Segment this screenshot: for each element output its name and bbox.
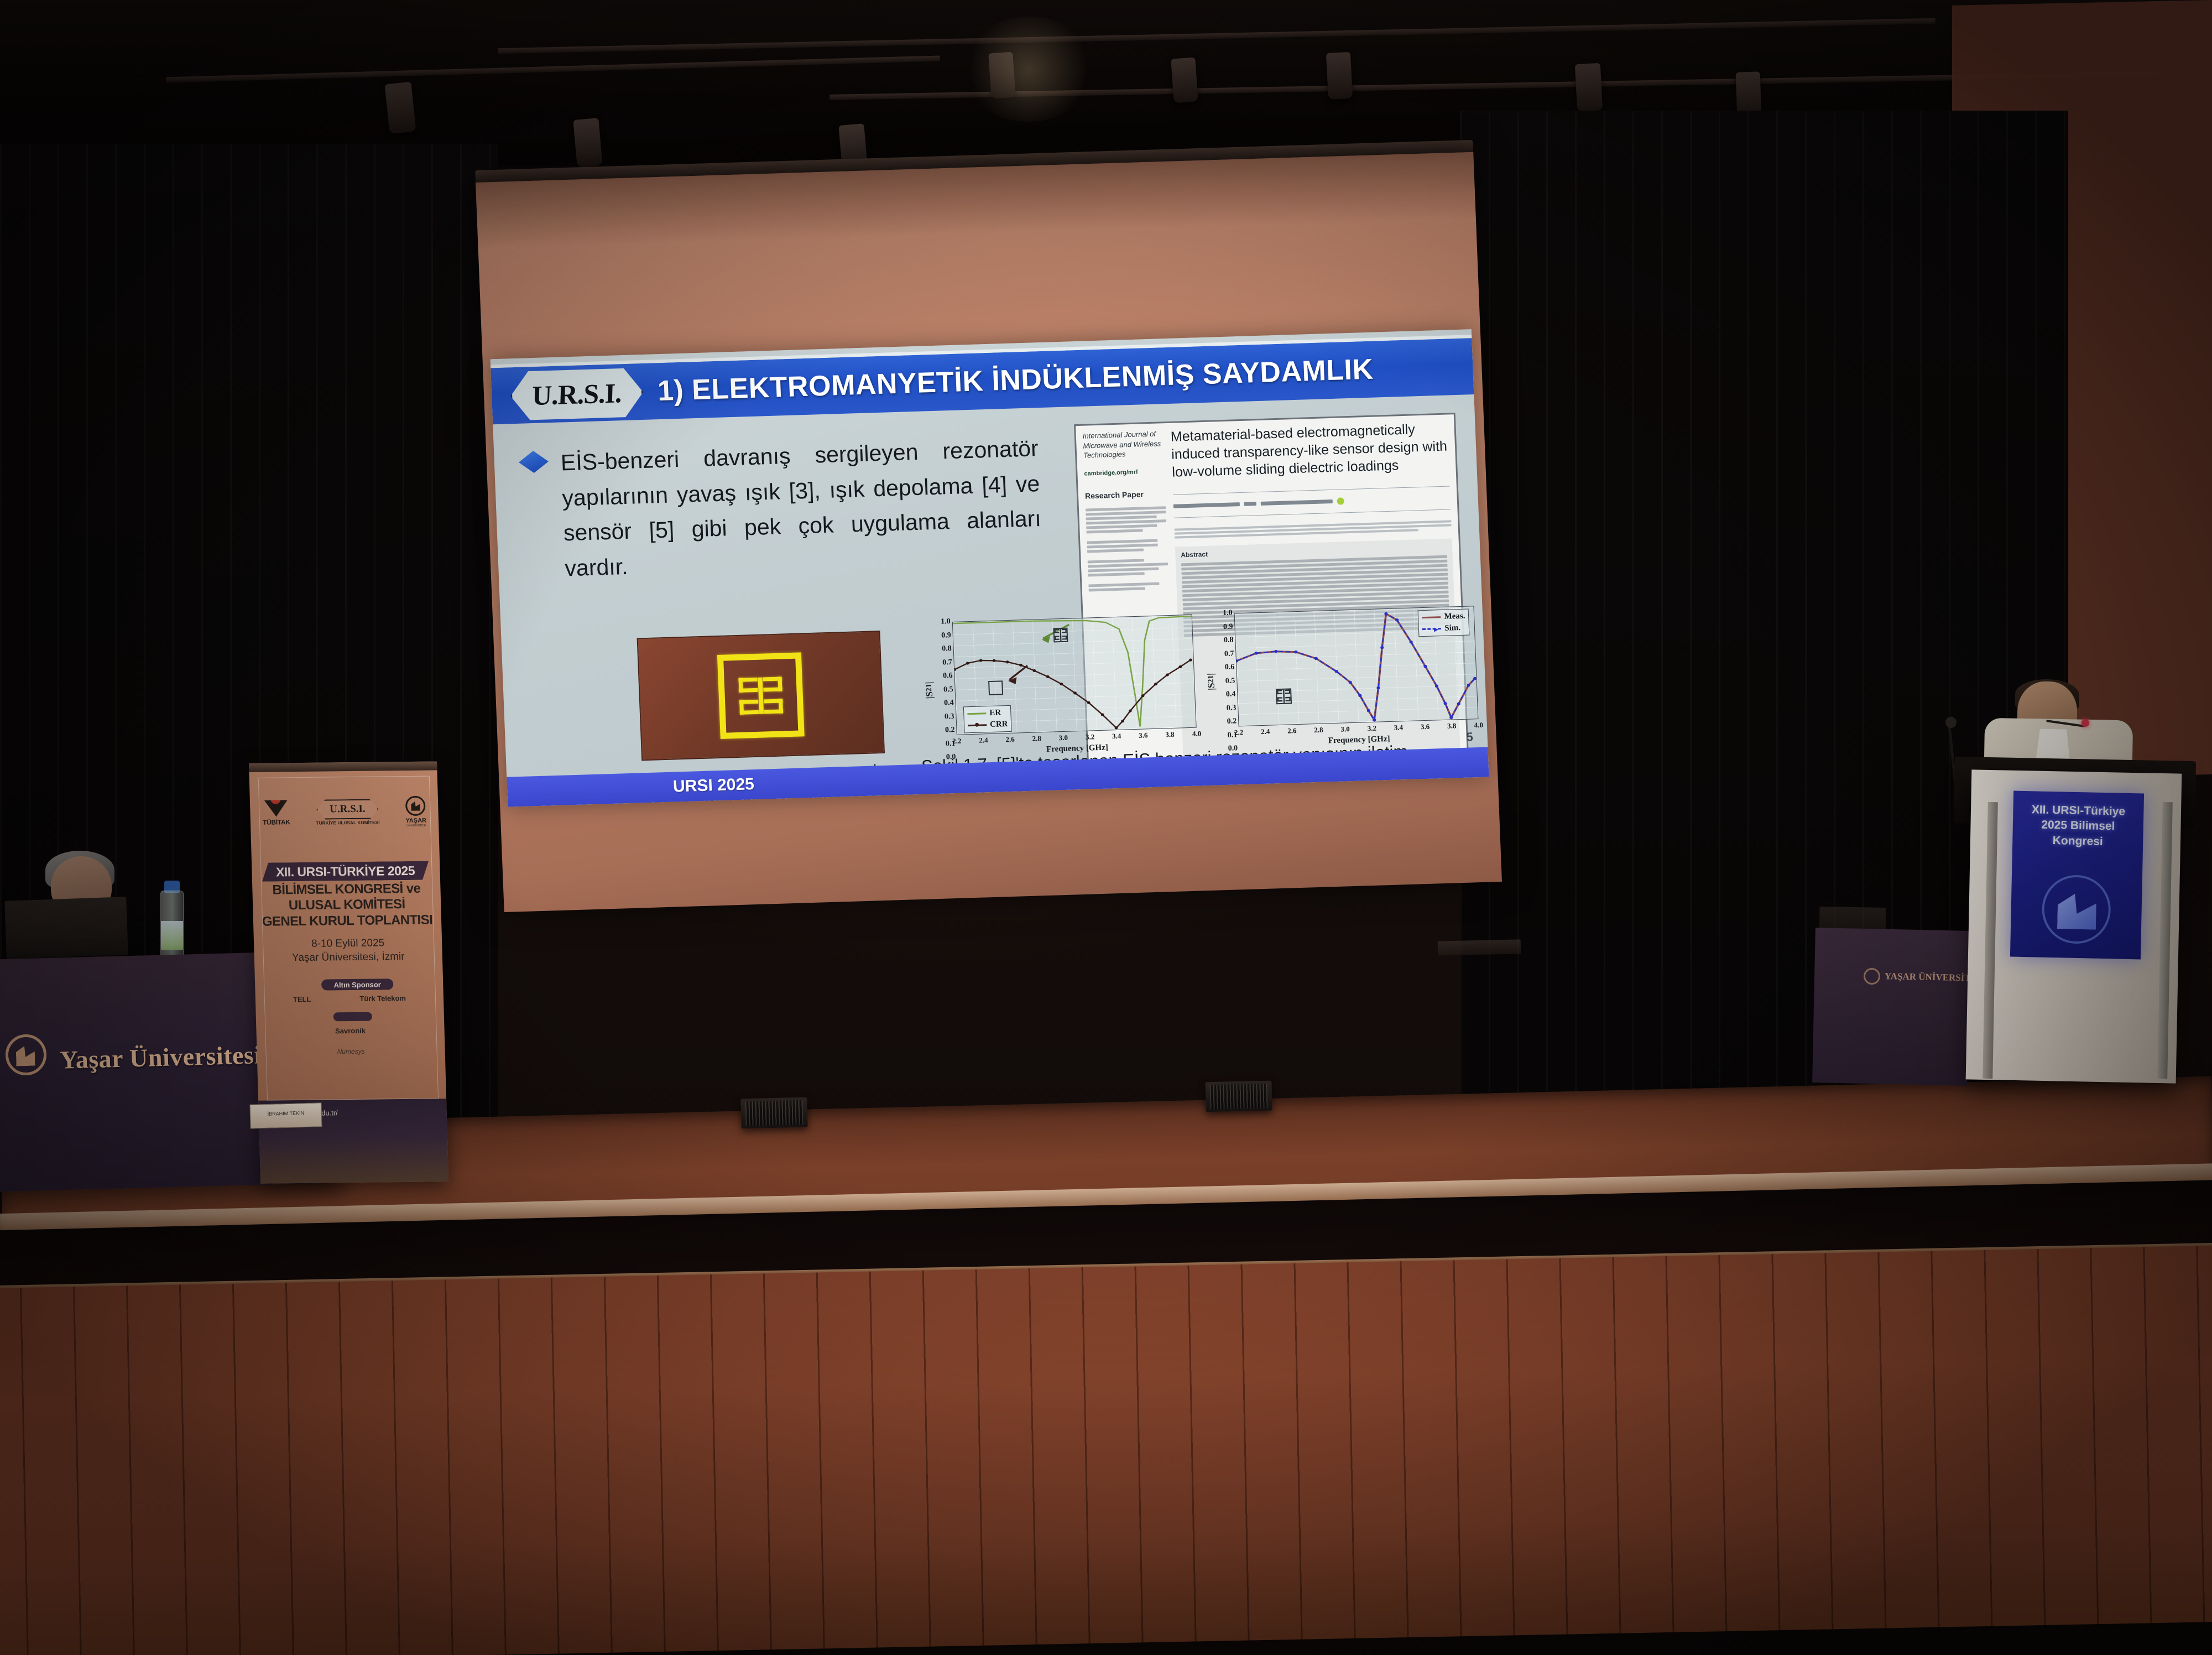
- sponsor-row-1: TELL Türk Telekom: [269, 994, 430, 1004]
- tubitak-logo-icon: TÜBİTAK: [262, 800, 290, 826]
- sponsor-band-label: Altın Sponsor: [333, 980, 381, 989]
- rollup-date-block: 8-10 Eylül 2025 Yaşar Üniversitesi, İzmi…: [259, 936, 437, 965]
- slide-footer-text: URSI 2025: [672, 775, 754, 796]
- ursi-logo-icon: U.R.S.I.: [509, 366, 644, 423]
- chart-er-crr: |S21| 1.00.90.8 0.70.60.5 0.40.30.2 0.10…: [921, 615, 1197, 758]
- rollup-line-2: BİLİMSEL KONGRESİ ve: [258, 881, 435, 898]
- paper-title: Metamaterial-based electromagnetically i…: [1170, 420, 1449, 481]
- rollup-line-4: GENEL KURUL TOPLANTISI: [259, 912, 436, 930]
- auditorium-scene: U.R.S.I. 1) ELEKTROMANYETİK İNDÜKLENMİŞ …: [0, 0, 2212, 1655]
- resonator-figure: [637, 631, 885, 761]
- stage-prop: [1438, 939, 1521, 955]
- head-table-brand: Yaşar Üniversitesi: [59, 1040, 262, 1075]
- cite-block: [1086, 506, 1167, 533]
- stage-light-icon: [384, 82, 416, 134]
- inner-resonator-pattern: [739, 677, 784, 715]
- chart2-plot-column: Meas. Sim.: [1234, 606, 1479, 748]
- projection-screen: U.R.S.I. 1) ELEKTROMANYETİK İNDÜKLENMİŞ …: [476, 152, 1527, 929]
- slide-bullet-text: EİS-benzeri davranış sergileyen rezonatö…: [560, 431, 1044, 586]
- speaker-grill: [1210, 1084, 1268, 1109]
- rollup-logo-row: TÜBİTAK U.R.S.I. TÜRKİYE ULUSAL KOMİTESİ…: [262, 796, 427, 829]
- resonator-inset-icon: [1276, 688, 1292, 704]
- legend-label-er: ER: [989, 707, 1001, 719]
- paper-authors: [1173, 495, 1451, 510]
- corresponding-block: [1088, 582, 1168, 591]
- podium-screen-line3: Kongresi: [2018, 832, 2138, 850]
- bottle-label: [161, 921, 183, 950]
- chart2-plot-area: Meas. Sim.: [1234, 606, 1479, 726]
- sponsor-numesys: Numesys: [337, 1048, 364, 1056]
- screen-canvas: U.R.S.I. 1) ELEKTROMANYETİK İNDÜKLENMİŞ …: [476, 152, 1502, 912]
- legend-item-crr: CRR: [968, 719, 1008, 731]
- stage-light-icon: [1171, 58, 1198, 103]
- yasar-sub-label: ÜNİVERSİTESİ: [406, 824, 427, 827]
- podium-screen-line1: XII. URSI-Türkiye: [2018, 802, 2138, 820]
- stage-light-icon: [988, 52, 1016, 99]
- slide-bullet: EİS-benzeri davranış sergileyen rezonatö…: [518, 431, 1044, 587]
- rollup-title-lines: BİLİMSEL KONGRESİ ve ULUSAL KOMİTESİ GEN…: [258, 881, 436, 929]
- rollup-headline: XII. URSI-TÜRKİYE 2025: [276, 863, 415, 879]
- speaker-grill: [745, 1100, 803, 1126]
- paper-divider: [1174, 509, 1451, 518]
- ursi-banner-sub: TÜRKİYE ULUSAL KOMİTESİ: [316, 820, 379, 826]
- slide-title: 1) ELEKTROMANYETİK İNDÜKLENMİŞ SAYDAMLIK: [657, 353, 1374, 408]
- legend-label-sim: Sim.: [1444, 623, 1461, 634]
- crr-inset-icon: [1053, 628, 1068, 643]
- side-table: [1812, 928, 1970, 1086]
- stage-apron-wood: [0, 1245, 2212, 1655]
- sponsor-tell: TELL: [293, 995, 311, 1003]
- stage-floor-box: [1205, 1081, 1272, 1112]
- sponsor-band-gold: Altın Sponsor: [321, 979, 394, 990]
- journal-name: International Journal of Microwave and W…: [1082, 429, 1164, 460]
- podium-screen-text: XII. URSI-Türkiye 2025 Bilimsel Kongresi: [2012, 802, 2144, 850]
- rollup-date: 8-10 Eylül 2025: [259, 936, 437, 951]
- paper-divider: [1173, 486, 1450, 495]
- yasar-banner-logo-icon: YAŞAR ÜNİVERSİTESİ: [405, 796, 426, 827]
- legend-label-crr: CRR: [990, 719, 1008, 730]
- keywords-block: [1088, 558, 1168, 576]
- legend-swatch-crr: [968, 724, 987, 726]
- rollup-line-3: ULUSAL KOMİTESİ: [258, 897, 436, 914]
- legend-item-sim: Sim.: [1422, 623, 1466, 635]
- nameplate-name: İBRAHİM TEKİN: [251, 1110, 321, 1117]
- nameplate: İBRAHİM TEKİN: [249, 1102, 322, 1128]
- legend-swatch-meas: [1422, 616, 1441, 618]
- chart-meas-sim: |S21| 1.00.90.8 0.70.60.5 0.40.30.2 0.10…: [1203, 606, 1479, 750]
- ursi-banner-logo-icon: U.R.S.I. TÜRKİYE ULUSAL KOMİTESİ: [315, 799, 379, 826]
- journal-url: cambridge.org/mrf: [1084, 467, 1165, 478]
- outer-square-ring: [717, 652, 805, 739]
- slide-title-bar: U.R.S.I. 1) ELEKTROMANYETİK İNDÜKLENMİŞ …: [491, 335, 1474, 424]
- er-inset-icon: [989, 680, 1004, 695]
- sponsor-turk-telekom: Türk Telekom: [359, 994, 406, 1003]
- ursi-banner-diamond: U.R.S.I.: [316, 799, 379, 820]
- sponsor-savronik: Savronik: [335, 1027, 366, 1035]
- chart1-plot-column: ER CRR: [952, 615, 1197, 757]
- chart2-legend: Meas. Sim.: [1418, 609, 1470, 637]
- chart1-legend: ER CRR: [963, 705, 1012, 733]
- orcid-icon: [1337, 498, 1345, 505]
- rollup-top-bar: [249, 761, 437, 772]
- sponsor-row-2: Savronik: [269, 1026, 431, 1036]
- mic-indicator-light-icon: [2081, 719, 2089, 727]
- paper-affiliations: [1174, 519, 1452, 540]
- transmission-spectra-charts: |S21| 1.00.90.8 0.70.60.5 0.40.30.2 0.10…: [921, 606, 1479, 758]
- history-block: [1087, 539, 1167, 553]
- legend-swatch-sim: [1422, 628, 1441, 630]
- tubitak-label: TÜBİTAK: [263, 818, 290, 826]
- yasar-circle-mark: [405, 796, 426, 816]
- rollup-headline-band: XII. URSI-TÜRKİYE 2025: [262, 861, 429, 882]
- slide-page-number: 5: [1466, 730, 1473, 744]
- podium-leaf-logo-icon: [2041, 875, 2111, 945]
- stage-light-icon: [1575, 63, 1603, 112]
- stage-light-icon: [573, 118, 602, 168]
- legend-item-meas: Meas.: [1422, 611, 1465, 623]
- sponsor-band-silver: [333, 1012, 372, 1022]
- bullet-diamond-icon: [518, 450, 549, 473]
- stage-light-icon: [1326, 52, 1353, 100]
- legend-item-er: ER: [967, 707, 1008, 719]
- yasar-label: YAŞAR: [405, 818, 426, 824]
- podium-display-screen: XII. URSI-Türkiye 2025 Bilimsel Kongresi: [2010, 791, 2144, 960]
- stage-floor-box: [740, 1097, 807, 1129]
- rollup-place: Yaşar Üniversitesi, İzmir: [260, 950, 437, 965]
- ursi-logo-text: U.R.S.I.: [532, 377, 622, 412]
- chart1-plot-area: ER CRR: [952, 615, 1197, 735]
- moderator-laptop: [4, 897, 128, 959]
- legend-label-meas: Meas.: [1444, 611, 1465, 622]
- presentation-slide: U.R.S.I. 1) ELEKTROMANYETİK İNDÜKLENMİŞ …: [491, 329, 1489, 807]
- tubitak-mark: [264, 800, 288, 816]
- paper-section-label: Research Paper: [1085, 488, 1166, 502]
- legend-swatch-er: [967, 712, 986, 715]
- microphone-head-icon: [1945, 717, 1957, 728]
